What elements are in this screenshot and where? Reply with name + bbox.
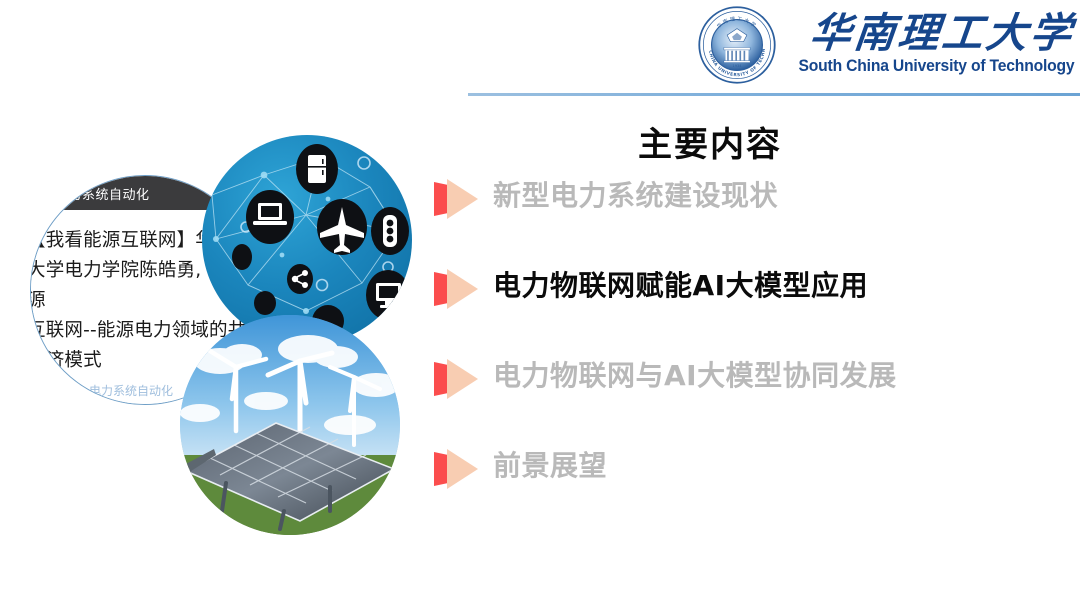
slide-root: SOUTH CHINA UNIVERSITY OF TECHNOLOGY 华南理… [0, 0, 1080, 608]
arrow-bullet-icon [434, 179, 480, 219]
agenda-item-2[interactable]: 电力物联网赋能AI大模型应用 [434, 266, 1054, 356]
share-icon [287, 264, 313, 294]
renewable-energy-photo [180, 315, 400, 535]
refrigerator-icon [296, 144, 338, 194]
agenda-item-3[interactable]: 电力物联网与AI大模型协同发展 [434, 356, 1054, 446]
agenda-item-4[interactable]: 前景展望 [434, 446, 1054, 536]
agenda-item-1-label: 新型电力系统建设现状 [493, 178, 778, 214]
arrow-bullet-icon [434, 359, 480, 399]
network-node [254, 291, 276, 315]
arrow-bullet-icon [434, 269, 480, 309]
agenda-item-2-label: 电力物联网赋能AI大模型应用 [493, 268, 868, 304]
traffic-light-icon [371, 207, 409, 255]
agenda-item-1[interactable]: 新型电力系统建设现状 [434, 176, 1054, 266]
laptop-icon [246, 190, 294, 244]
brand-name-cn: 华南理工大学 [808, 12, 1077, 55]
arrow-bullet-icon [434, 449, 480, 489]
brand-wordmark: 华南理工大学 South China University of Technol… [784, 12, 1074, 77]
header-divider-rule [468, 93, 1080, 96]
university-seal-icon: SOUTH CHINA UNIVERSITY OF TECHNOLOGY 华南理… [696, 4, 778, 86]
airplane-icon [317, 199, 367, 255]
agenda-item-3-label: 电力物联网与AI大模型协同发展 [493, 358, 897, 394]
agenda-item-4-label: 前景展望 [493, 448, 607, 484]
network-node [232, 244, 252, 270]
page-title: 主要内容 [430, 117, 990, 166]
seal-year: 1934 [732, 64, 742, 68]
illustration-cluster: 电力系统自动化 【我看能源互联网】华南理工 大学电力学院陈皓勇, 等: 能源 互… [0, 130, 430, 550]
university-brand: SOUTH CHINA UNIVERSITY OF TECHNOLOGY 华南理… [696, 4, 1074, 86]
agenda-list: 新型电力系统建设现状 电力物联网赋能AI大模型应用 电力物联网与AI大模型协同发… [434, 176, 1054, 536]
brand-name-en: South China University of Technology [798, 57, 1074, 76]
monitor-icon [366, 270, 410, 320]
iot-network-photo [202, 135, 412, 345]
